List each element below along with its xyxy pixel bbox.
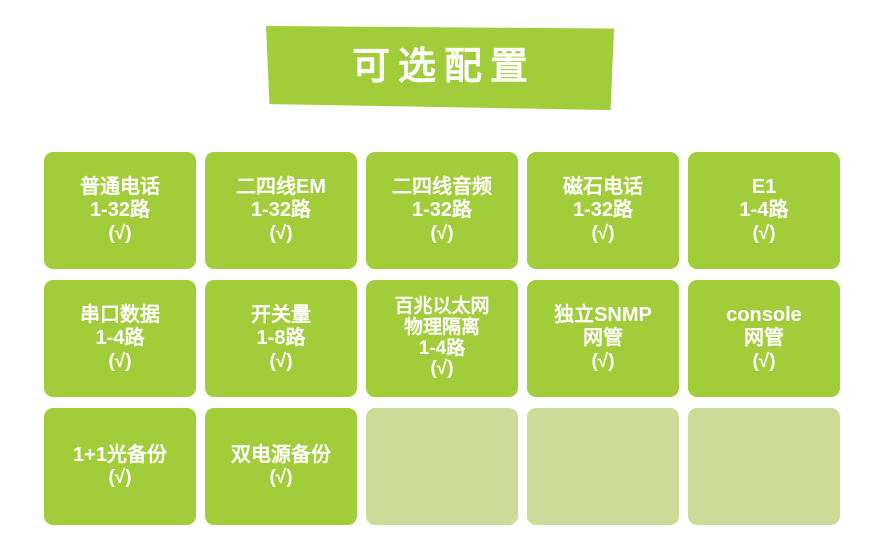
checkmark-icon: (√): [430, 359, 453, 380]
option-tile[interactable]: 串口数据1-4路(√): [44, 280, 196, 397]
checkmark-icon: (√): [269, 351, 292, 373]
option-tile-placeholder: [366, 408, 518, 525]
checkmark-icon: (√): [108, 223, 131, 245]
option-tile-line: 1-4路: [740, 199, 789, 222]
option-tile[interactable]: 双电源备份(√): [205, 408, 357, 525]
checkmark-icon: (√): [591, 351, 614, 373]
title-banner: 可选配置: [266, 26, 614, 110]
option-tile-line: 百兆以太网: [394, 297, 489, 318]
option-tile-line: 独立SNMP: [554, 304, 652, 327]
option-tile-grid: 普通电话1-32路(√)二四线EM1-32路(√)二四线音频1-32路(√)磁石…: [44, 152, 840, 525]
option-tile-placeholder: [527, 408, 679, 525]
option-tile-line: 网管: [744, 327, 784, 350]
option-tile-line: 串口数据: [80, 304, 160, 327]
option-tile-line: 普通电话: [80, 176, 160, 199]
option-tile-line: 1-8路: [257, 327, 306, 350]
checkmark-icon: (√): [269, 223, 292, 245]
option-tile-line: 1-4路: [419, 339, 465, 360]
page-title: 可选配置: [266, 26, 614, 110]
option-tile-line: 网管: [583, 327, 623, 350]
checkmark-icon: (√): [108, 351, 131, 373]
checkmark-icon: (√): [752, 223, 775, 245]
option-tile-line: 双电源备份: [231, 444, 331, 467]
option-tile[interactable]: 磁石电话1-32路(√): [527, 152, 679, 269]
option-tile[interactable]: 普通电话1-32路(√): [44, 152, 196, 269]
option-tile-line: 1-32路: [90, 199, 150, 222]
option-tile-line: 1-4路: [96, 327, 145, 350]
option-tile-line: 物理隔离: [404, 318, 480, 339]
option-tile-line: 1+1光备份: [73, 444, 167, 467]
option-tile[interactable]: 二四线EM1-32路(√): [205, 152, 357, 269]
option-tile-line: 1-32路: [251, 199, 311, 222]
option-tile[interactable]: 二四线音频1-32路(√): [366, 152, 518, 269]
option-tile[interactable]: 独立SNMP网管(√): [527, 280, 679, 397]
option-tile[interactable]: 百兆以太网物理隔离1-4路(√): [366, 280, 518, 397]
option-tile-line: 二四线EM: [236, 176, 326, 199]
checkmark-icon: (√): [591, 223, 614, 245]
option-tile-line: console: [726, 304, 802, 327]
option-tile[interactable]: 1+1光备份(√): [44, 408, 196, 525]
option-tile-line: 1-32路: [412, 199, 472, 222]
checkmark-icon: (√): [108, 467, 131, 489]
option-tile-placeholder: [688, 408, 840, 525]
option-tile[interactable]: E11-4路(√): [688, 152, 840, 269]
option-tile-line: 1-32路: [573, 199, 633, 222]
optional-configuration-panel: 可选配置 普通电话1-32路(√)二四线EM1-32路(√)二四线音频1-32路…: [0, 0, 880, 560]
checkmark-icon: (√): [269, 467, 292, 489]
option-tile-line: 二四线音频: [392, 176, 492, 199]
checkmark-icon: (√): [752, 351, 775, 373]
option-tile-line: 磁石电话: [563, 176, 643, 199]
option-tile-line: 开关量: [251, 304, 311, 327]
option-tile[interactable]: 开关量1-8路(√): [205, 280, 357, 397]
checkmark-icon: (√): [430, 223, 453, 245]
option-tile[interactable]: console网管(√): [688, 280, 840, 397]
option-tile-line: E1: [752, 176, 776, 199]
